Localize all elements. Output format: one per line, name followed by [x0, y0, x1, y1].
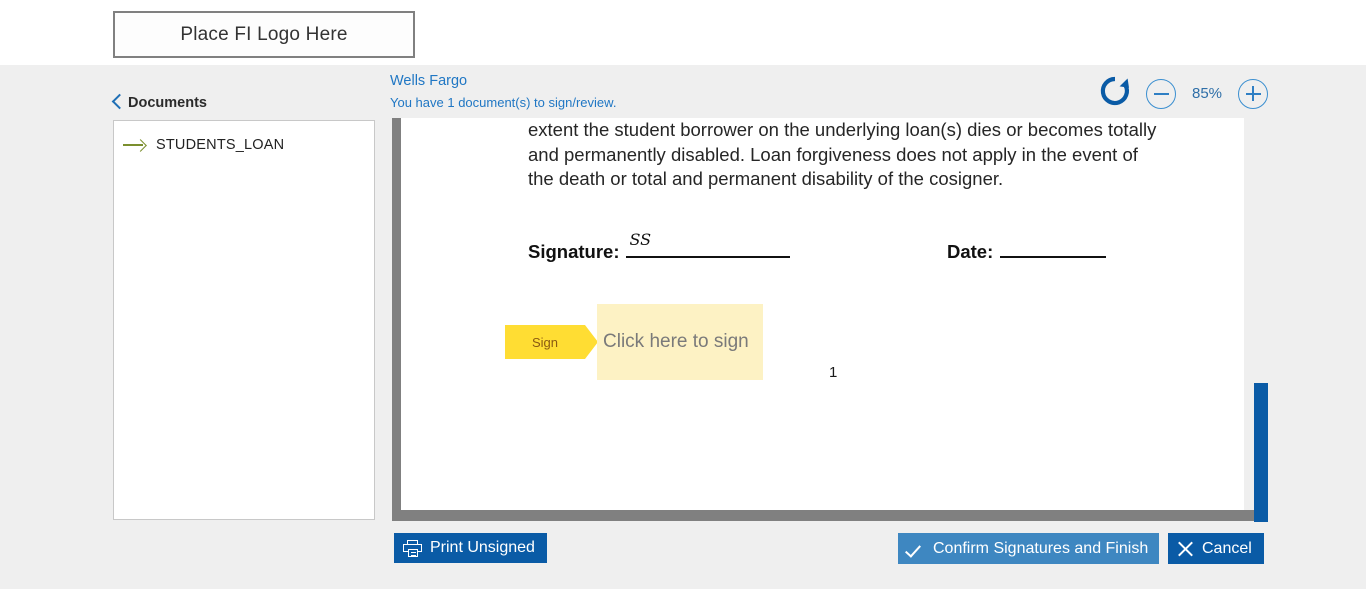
logo-placeholder: Place FI Logo Here	[113, 11, 415, 58]
document-info: Wells Fargo You have 1 document(s) to si…	[390, 72, 616, 112]
date-field: Date:	[947, 236, 1106, 263]
close-icon	[1176, 540, 1194, 558]
zoom-in-button[interactable]	[1238, 79, 1268, 109]
sidebar-item-students-loan[interactable]: STUDENTS_LOAN	[114, 121, 374, 153]
viewer-vertical-scrollbar-thumb[interactable]	[1254, 383, 1268, 522]
check-icon	[907, 540, 925, 558]
sign-tag-button[interactable]: Sign	[505, 325, 585, 359]
cancel-label: Cancel	[1202, 540, 1252, 558]
sign-tag-label: Sign	[532, 335, 558, 350]
document-page: extent the student borrower on the under…	[401, 118, 1244, 510]
confirm-signatures-label: Confirm Signatures and Finish	[933, 540, 1148, 558]
click-here-to-sign-zone[interactable]: Click here to sign	[597, 304, 763, 380]
viewer-vertical-scrollbar-track[interactable]	[1254, 118, 1268, 521]
documents-to-sign-status: You have 1 document(s) to sign/review.	[390, 94, 616, 112]
print-unsigned-label: Print Unsigned	[430, 539, 535, 557]
logo-placeholder-text: Place FI Logo Here	[180, 24, 347, 46]
signature-value: SS	[629, 230, 651, 249]
plus-icon-vertical	[1252, 86, 1254, 101]
top-banner: Place FI Logo Here	[0, 0, 1366, 65]
signature-label: Signature:	[528, 241, 619, 263]
document-viewer: extent the student borrower on the under…	[390, 118, 1268, 521]
confirm-signatures-button[interactable]: Confirm Signatures and Finish	[898, 533, 1159, 564]
organization-name: Wells Fargo	[390, 72, 616, 90]
print-unsigned-button[interactable]: Print Unsigned	[394, 533, 547, 563]
cancel-button[interactable]: Cancel	[1168, 533, 1264, 564]
signature-input-line[interactable]: SS	[626, 236, 790, 258]
minus-icon	[1154, 93, 1169, 95]
viewer-horizontal-scrollbar[interactable]	[392, 510, 1258, 521]
zoom-out-button[interactable]	[1146, 79, 1176, 109]
printer-icon	[403, 540, 422, 557]
zoom-controls: 85%	[1098, 74, 1268, 113]
back-to-documents-link[interactable]: Documents	[111, 93, 207, 112]
document-paragraph: extent the student borrower on the under…	[528, 118, 1168, 192]
date-label: Date:	[947, 241, 993, 263]
arrow-right-icon	[123, 139, 147, 151]
viewer-left-rail	[392, 118, 401, 521]
page-number: 1	[829, 364, 837, 381]
date-input-line[interactable]	[1000, 236, 1106, 258]
sidebar-item-label: STUDENTS_LOAN	[156, 137, 284, 153]
signature-field: Signature: SS	[528, 236, 790, 263]
click-here-to-sign-label: Click here to sign	[603, 331, 749, 353]
refresh-icon[interactable]	[1098, 74, 1132, 113]
chevron-left-icon	[111, 93, 122, 112]
zoom-level-value: 85%	[1190, 85, 1224, 102]
signature-date-row: Signature: SS Date:	[528, 236, 1228, 266]
back-to-documents-label: Documents	[128, 95, 207, 111]
document-list-panel: STUDENTS_LOAN	[113, 120, 375, 520]
